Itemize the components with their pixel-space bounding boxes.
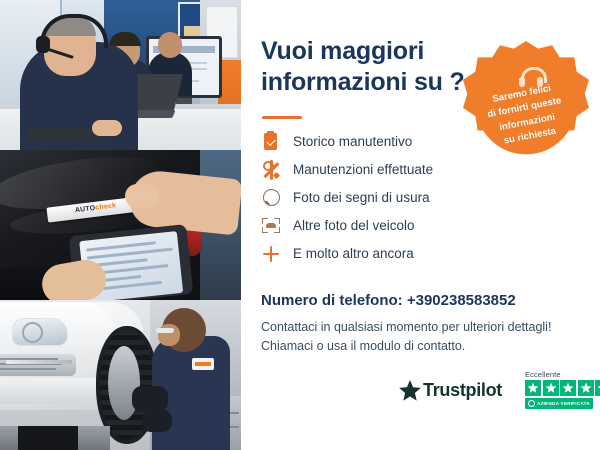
star-3: [560, 380, 576, 396]
photo-column: AUTOcheck: [0, 0, 241, 450]
plus-icon: [261, 244, 281, 264]
car-scan-icon: [261, 216, 281, 236]
phone-number[interactable]: +390238583852: [407, 292, 516, 309]
contact-line-1: Contattaci in qualsiasi momento per ulte…: [261, 318, 581, 337]
phone-label: Numero di telefono:: [261, 292, 403, 309]
title-divider: [262, 116, 302, 119]
feature-list: Storico manutentivo Manutenzioni effettu…: [261, 131, 561, 271]
tools-wrench-screwdriver-icon: [261, 160, 281, 180]
vehicle-inspection-tablet-photo: AUTOcheck: [0, 150, 241, 300]
list-item-label: Storico manutentivo: [293, 133, 412, 151]
list-item-label: Foto dei segni di usura: [293, 189, 430, 207]
list-item: Manutenzioni effettuate: [261, 159, 561, 187]
star-4: [578, 380, 594, 396]
trustpilot-star-icon: [399, 380, 421, 401]
trustpilot-stars: [525, 380, 600, 396]
star-5: [595, 380, 600, 396]
promo-card: AUTOcheck: [0, 0, 600, 450]
list-item: E molto altro ancora: [261, 243, 561, 271]
list-item: Altre foto del veicolo: [261, 215, 561, 243]
content-panel: Vuoi maggiori informazioni su ? Saremo f…: [241, 0, 600, 450]
call-center-operators-photo: [0, 0, 241, 150]
verified-check-icon: [528, 400, 535, 407]
clipboard-check-icon: [261, 132, 281, 152]
verified-badge: AZIENDA VERIFICATA: [525, 398, 593, 409]
list-item-label: E molto altro ancora: [293, 245, 414, 263]
phone-line: Numero di telefono: +390238583852: [261, 292, 516, 309]
mechanic-wheel-inspection-photo: [0, 300, 241, 450]
trustpilot-rating-label: Eccellente: [525, 370, 561, 379]
page-title: Vuoi maggiori informazioni su ?: [261, 36, 471, 99]
contact-line-2: Chiamaci o usa il modulo di contatto.: [261, 337, 581, 356]
trustpilot-wordmark: Trustpilot: [423, 380, 502, 401]
contact-text: Contattaci in qualsiasi momento per ulte…: [261, 318, 581, 356]
list-item: Storico manutentivo: [261, 131, 561, 159]
magnifier-icon: [261, 188, 281, 208]
list-item-label: Altre foto del veicolo: [293, 217, 415, 235]
list-item-label: Manutenzioni effettuate: [293, 161, 433, 179]
list-item: Foto dei segni di usura: [261, 187, 561, 215]
star-2: [543, 380, 559, 396]
trustpilot-widget[interactable]: Trustpilot Eccellente: [399, 368, 589, 418]
star-1: [525, 380, 541, 396]
verified-label: AZIENDA VERIFICATA: [537, 401, 590, 406]
